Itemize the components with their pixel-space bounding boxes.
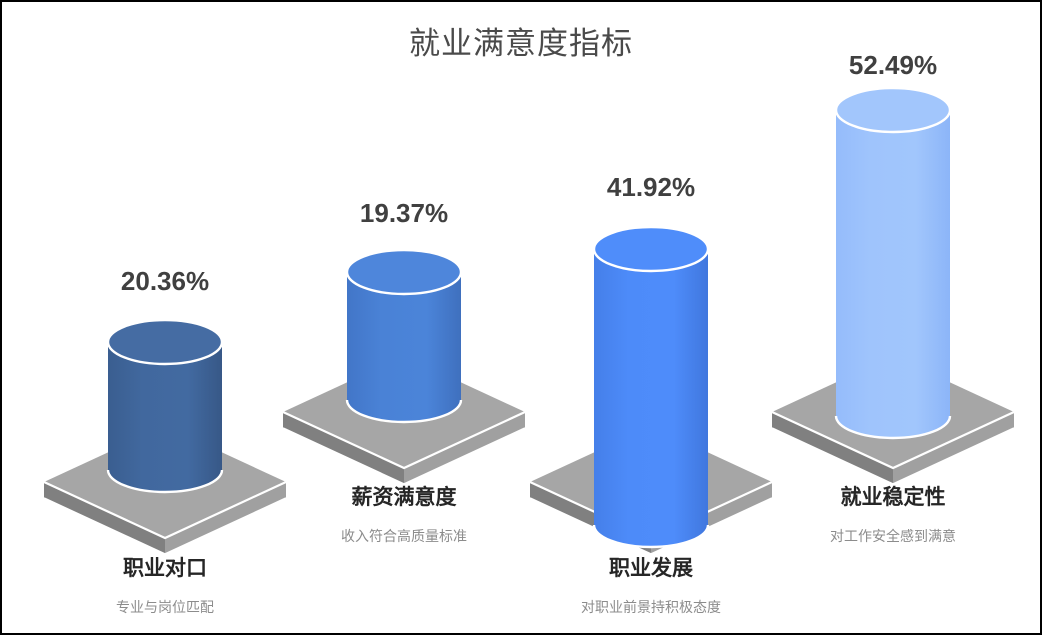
cylinder-bar-4[interactable] <box>828 88 958 448</box>
category-title-1: 职业对口 <box>34 552 296 582</box>
value-label-3: 41.92% <box>520 172 782 203</box>
chart-canvas: 就业满意度指标 <box>0 0 1042 635</box>
category-description-1: 专业与岗位匹配 <box>34 597 296 617</box>
bar-group-2[interactable]: 19.37% 薪资满意度 收入符合高质量标准 <box>273 2 535 635</box>
value-label-4: 52.49% <box>762 50 1024 81</box>
category-description-4: 对工作安全感到满意 <box>762 526 1024 546</box>
cylinder-bar-2[interactable] <box>339 250 469 430</box>
cylinder-bar-3[interactable] <box>586 227 716 557</box>
cylinder-bar-1[interactable] <box>100 320 230 500</box>
category-title-2: 薪资满意度 <box>273 481 535 511</box>
value-label-1: 20.36% <box>34 266 296 297</box>
category-title-4: 就业稳定性 <box>762 481 1024 511</box>
category-description-2: 收入符合高质量标准 <box>273 526 535 546</box>
bar-group-4[interactable]: 52.49% 就业稳定性 对工作安全感到满意 <box>762 2 1024 635</box>
value-label-2: 19.37% <box>273 198 535 229</box>
bar-group-3[interactable]: 41.92% 职业发展 对职业前景持积极态度 <box>520 2 782 635</box>
bar-group-1[interactable]: 20.36% 职业对口 专业与岗位匹配 <box>34 2 296 635</box>
category-title-3: 职业发展 <box>520 552 782 582</box>
category-description-3: 对职业前景持积极态度 <box>520 597 782 617</box>
